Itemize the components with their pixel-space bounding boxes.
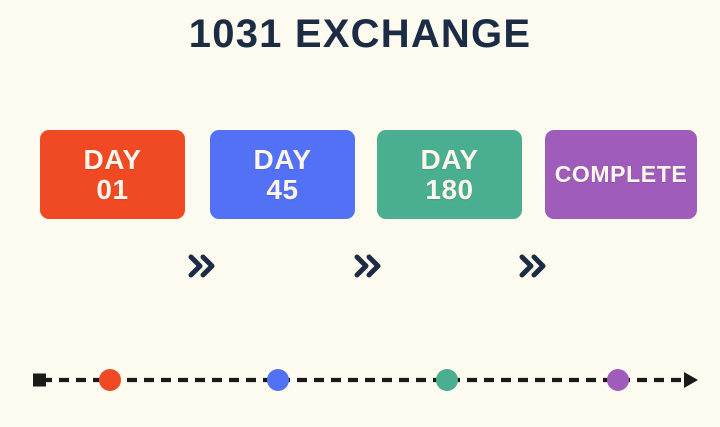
step-caption: NEW PROPERTY xyxy=(576,310,652,320)
step-body-day-01: CURRENT PROPERTY SOLD ON THIS DATE xyxy=(49,214,176,345)
step-header-day-180[interactable]: DAY 180 xyxy=(377,130,522,219)
step-card-day-45: 45 DAY PERIOD TO IDENTIFY THE REPLACEMEN… xyxy=(210,130,355,219)
step-header-day-01[interactable]: DAY 01 xyxy=(40,130,185,219)
step-card-day-01: CURRENT PROPERTY SOLD ON THIS DATE xyxy=(40,130,185,219)
bank-building-icon: $ xyxy=(435,295,465,322)
step-header-value: 180 xyxy=(425,175,473,205)
step-body-day-45: 45 DAY PERIOD TO IDENTIFY THE REPLACEMEN… xyxy=(219,214,346,351)
three-houses-icon xyxy=(569,263,661,303)
timeline xyxy=(0,360,720,400)
step-header-value: 01 xyxy=(96,175,128,205)
step-body-complete: NEW PROPERTY xyxy=(551,214,678,345)
timeline-dot-day-45 xyxy=(267,369,289,391)
step-header-value: 45 xyxy=(266,175,298,205)
timeline-dot-complete xyxy=(607,369,629,391)
step-header-label: DAY xyxy=(420,145,478,175)
step-card-day-180: EXCHANGER MUST CLOSE ON THE REPLACEMENT … xyxy=(377,130,522,219)
step-header-complete[interactable]: COMPLETE xyxy=(545,130,697,219)
double-chevron-right-icon-1 xyxy=(184,248,220,284)
step-header-label: COMPLETE xyxy=(555,162,688,186)
magnifying-glass-icon xyxy=(268,295,298,325)
step-description: 45 DAY PERIOD TO IDENTIFY THE REPLACEMEN… xyxy=(225,230,340,286)
step-description: CURRENT PROPERTY SOLD ON THIS DATE xyxy=(55,230,170,258)
timeline-end-arrowhead-marker xyxy=(684,372,698,388)
step-description: EXCHANGER MUST CLOSE ON THE REPLACEMENT … xyxy=(392,230,507,286)
timeline-start-square-marker xyxy=(33,374,46,387)
office-building-icon xyxy=(96,267,130,305)
timeline-dot-day-01 xyxy=(99,369,121,391)
step-card-complete: NEW PROPERTY COMPLETE xyxy=(545,130,697,219)
step-header-label: DAY xyxy=(83,145,141,175)
double-chevron-right-icon-2 xyxy=(350,248,386,284)
step-header-label: DAY xyxy=(253,145,311,175)
page-title: 1031 EXCHANGE xyxy=(0,12,720,57)
step-header-day-45[interactable]: DAY 45 xyxy=(210,130,355,219)
step-body-day-180: EXCHANGER MUST CLOSE ON THE REPLACEMENT … xyxy=(386,214,513,353)
timeline-dot-day-180 xyxy=(436,369,458,391)
double-chevron-right-icon-3 xyxy=(515,248,551,284)
infographic-canvas: 1031 EXCHANGE CURRENT PROPERTY SOLD ON T… xyxy=(0,0,720,427)
svg-text:$: $ xyxy=(448,309,452,316)
